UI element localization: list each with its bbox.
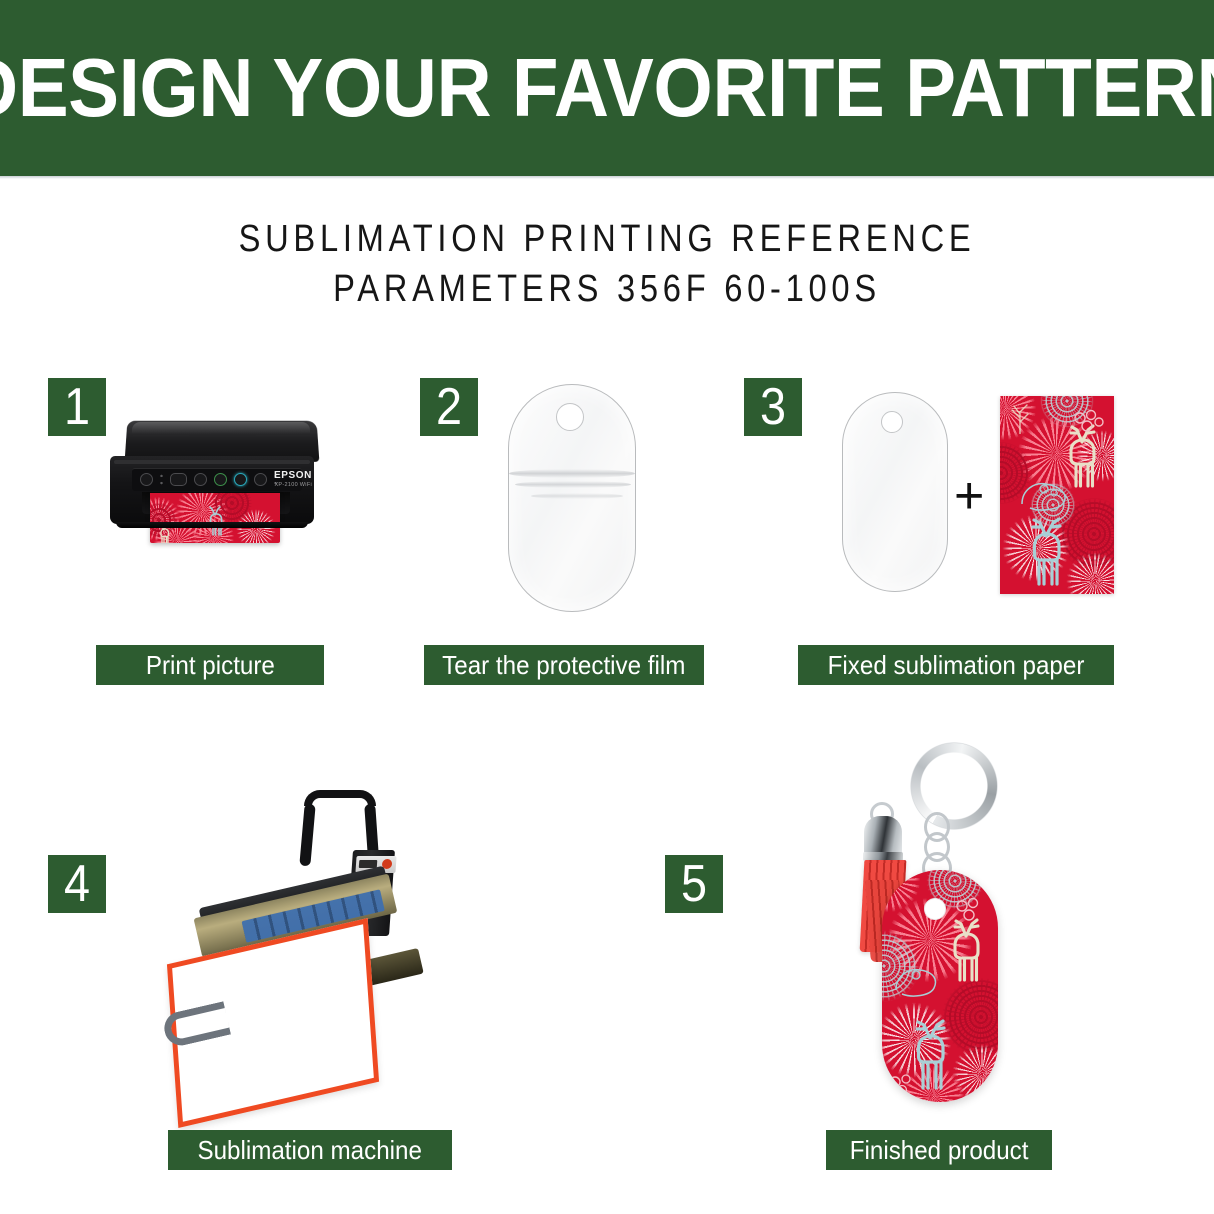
bw-copy-button-icon: [214, 473, 227, 486]
blank-hole: [556, 403, 584, 431]
printer-lid-highlight: [132, 422, 310, 434]
finished-keychain-illustration: [820, 730, 1060, 1110]
tag-hole: [924, 898, 946, 920]
step-badge-2: 2: [420, 378, 478, 436]
press-arm-right: [364, 804, 379, 857]
wifi-button-icon: [170, 473, 187, 486]
plus-operator: +: [954, 470, 984, 522]
step-label-5: Finished product: [826, 1130, 1052, 1170]
step-badge-3: 3: [744, 378, 802, 436]
sublimation-paper: [1000, 396, 1114, 594]
power-button-icon: [140, 473, 153, 486]
subtitle: SUBLIMATION PRINTING REFERENCE PARAMETER…: [85, 214, 1129, 314]
film-peel-line-lower: [531, 493, 623, 499]
film-peel-line-mid: [515, 481, 631, 488]
stop-button-icon: [194, 473, 207, 486]
heat-press-illustration: [180, 790, 480, 1090]
berry-cluster-motif: [1072, 408, 1108, 440]
step-badge-4: 4: [48, 855, 106, 913]
info-button-icon: [254, 473, 267, 486]
blank-keychain-step2: [508, 384, 636, 612]
subtitle-line-2: PARAMETERS 356F 60-100S: [85, 264, 1129, 314]
printer-model-label: XP-2100 WiFi: [274, 482, 312, 488]
subtitle-line-1: SUBLIMATION PRINTING REFERENCE: [85, 214, 1129, 264]
film-peel-line-upper: [509, 469, 635, 478]
printer-illustration: EPSON XP-2100 WiFi: [96, 420, 326, 540]
blank-hole-step3: [881, 411, 903, 433]
status-dots-icon: [160, 474, 163, 485]
step-label-3: Fixed sublimation paper: [798, 645, 1114, 685]
step-label-4: Sublimation machine: [168, 1130, 452, 1170]
press-arm-left: [299, 804, 315, 867]
step-label-2: Tear the protective film: [424, 645, 704, 685]
printer-brand-label: EPSON: [274, 471, 312, 481]
split-ring: [906, 738, 1002, 834]
printer-button-row: [140, 473, 277, 486]
color-copy-button-icon: [234, 473, 247, 486]
berry-cluster-motif-tag: [954, 896, 988, 926]
press-handle-bar: [304, 790, 376, 806]
step-label-1: Print picture: [96, 645, 324, 685]
deer-pattern-paper: [1000, 396, 1114, 594]
printed-paper: [150, 493, 280, 543]
header-divider: [0, 176, 1214, 179]
berry-cluster-motif-tag-2: [886, 1070, 918, 1100]
header-band: DESIGN YOUR FAVORITE PATTERN: [0, 0, 1214, 176]
deer-motif-blue-large: [1018, 514, 1078, 594]
twig-motif: [1006, 400, 1036, 434]
printer-seam: [114, 460, 310, 464]
blank-keychain-step3: [842, 392, 948, 592]
page-title: DESIGN YOUR FAVORITE PATTERN: [0, 44, 1214, 132]
printer-base: [116, 522, 308, 528]
paisley-motif: [1018, 480, 1070, 514]
step-badge-5: 5: [665, 855, 723, 913]
infographic-page: DESIGN YOUR FAVORITE PATTERN SUBLIMATION…: [0, 0, 1214, 1214]
paisley-motif-tag: [892, 966, 938, 1000]
deer-pattern-print: [150, 493, 280, 543]
